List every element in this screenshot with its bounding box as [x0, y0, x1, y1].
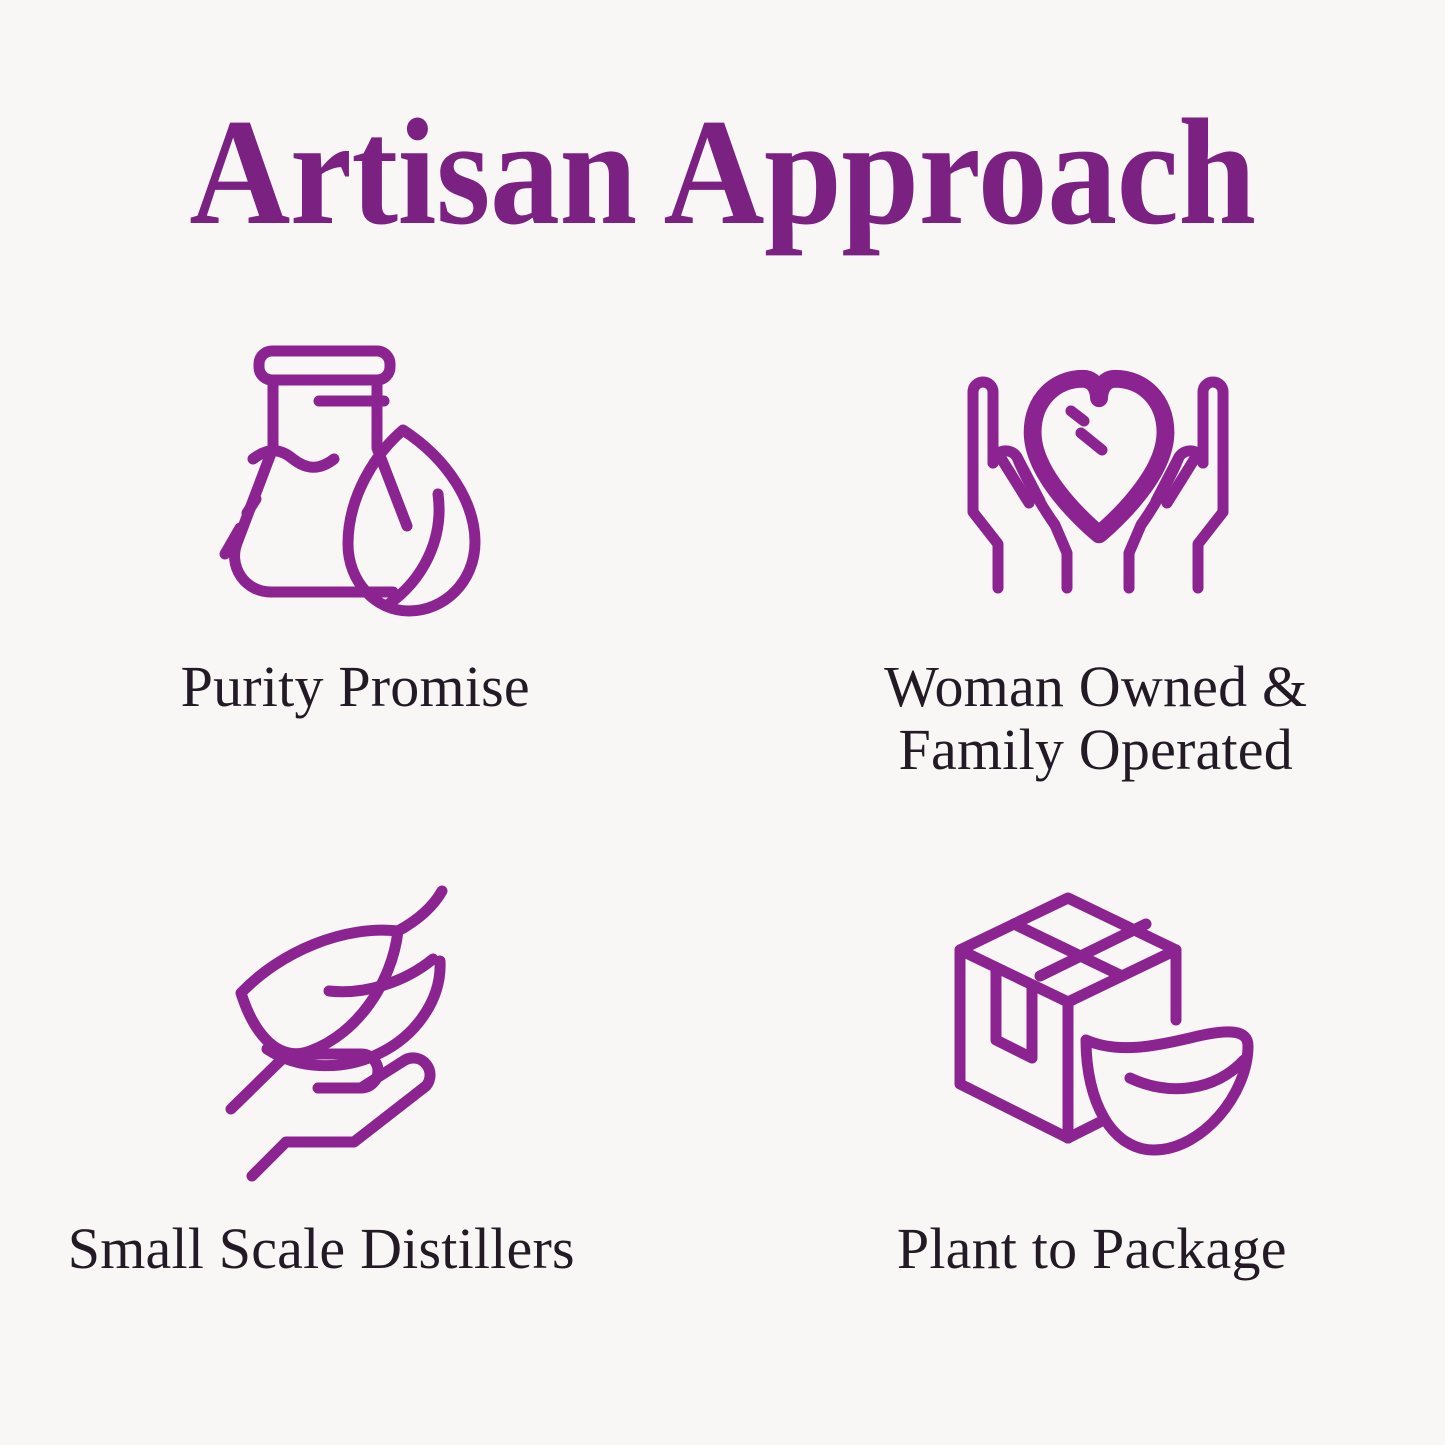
page-title-container: Artisan Approach: [0, 96, 1445, 248]
feature-card-plant-to-package: Plant to Package: [723, 850, 1445, 1370]
feature-label: Woman Owned & Family Operated: [884, 656, 1307, 781]
feature-card-purity-promise: Purity Promise: [0, 330, 723, 850]
page-title: Artisan Approach: [189, 96, 1255, 248]
feature-label: Plant to Package: [897, 1218, 1287, 1281]
flask-leaf-icon: [227, 330, 479, 620]
box-leaf-icon: [948, 878, 1248, 1168]
artisan-approach-graphic: Artisan Approach: [0, 0, 1445, 1445]
feature-card-small-scale-distillers: Small Scale Distillers: [0, 850, 723, 1370]
feature-card-woman-owned: Woman Owned & Family Operated: [723, 330, 1445, 850]
feature-grid: Purity Promise: [0, 330, 1445, 1370]
hand-holding-leaf-icon: [226, 878, 476, 1168]
hands-holding-heart-icon: [950, 330, 1246, 620]
feature-label: Purity Promise: [181, 656, 530, 719]
feature-label: Small Scale Distillers: [68, 1218, 575, 1281]
